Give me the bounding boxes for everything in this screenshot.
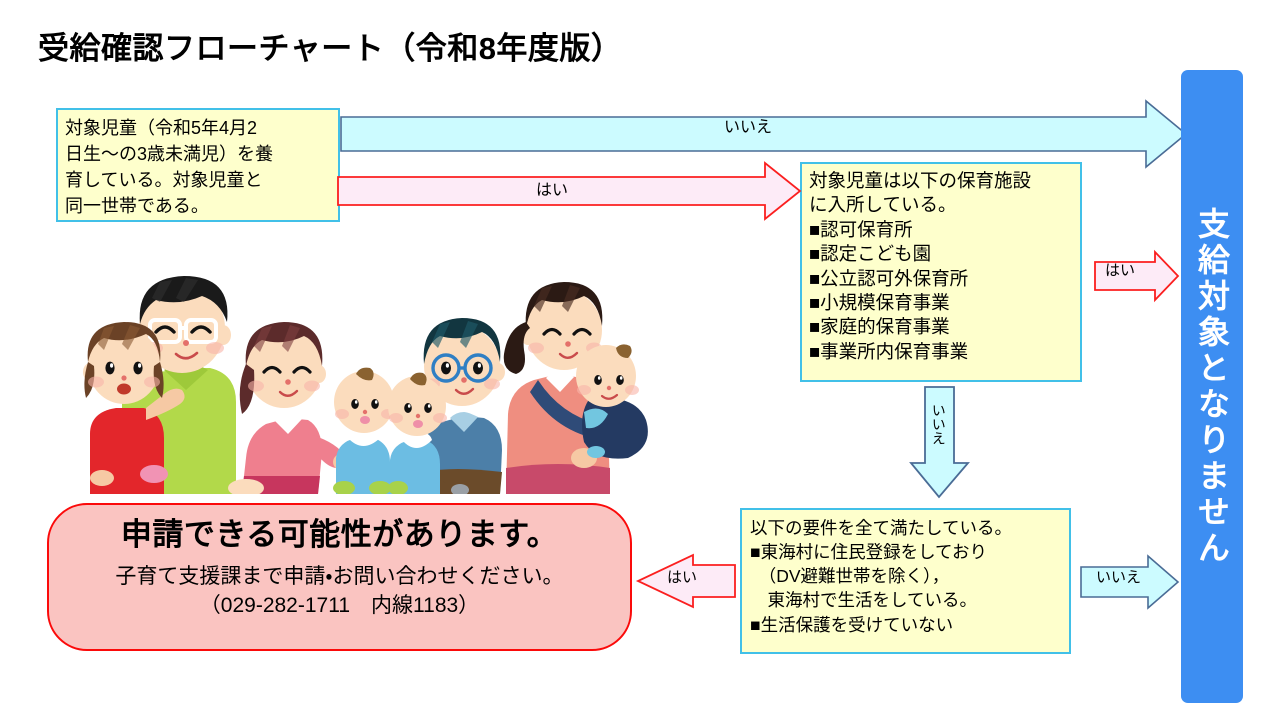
arrow-label-q1-no: いいえ xyxy=(724,120,772,137)
arrow-q1-yes-to-q2 xyxy=(338,163,800,219)
arrow-layer xyxy=(0,0,1280,720)
terminal-bar-not-eligible: 支給対象となりません xyxy=(1181,70,1243,703)
flowchart-canvas: 受給確認フローチャート（令和8年度版） いいえ はい はい いいえ はい いいえ… xyxy=(0,0,1280,720)
arrow-label-q1-yes: はい xyxy=(536,183,568,200)
arrow-label-q3-no: いいえ xyxy=(1096,570,1141,586)
arrow-label-q2-no: いいえ xyxy=(931,403,946,445)
terminal-bar-label: 支給対象となりません xyxy=(1181,70,1243,703)
arrow-label-q2-yes: はい xyxy=(1105,263,1135,279)
arrow-label-q3-yes: はい xyxy=(667,570,697,586)
